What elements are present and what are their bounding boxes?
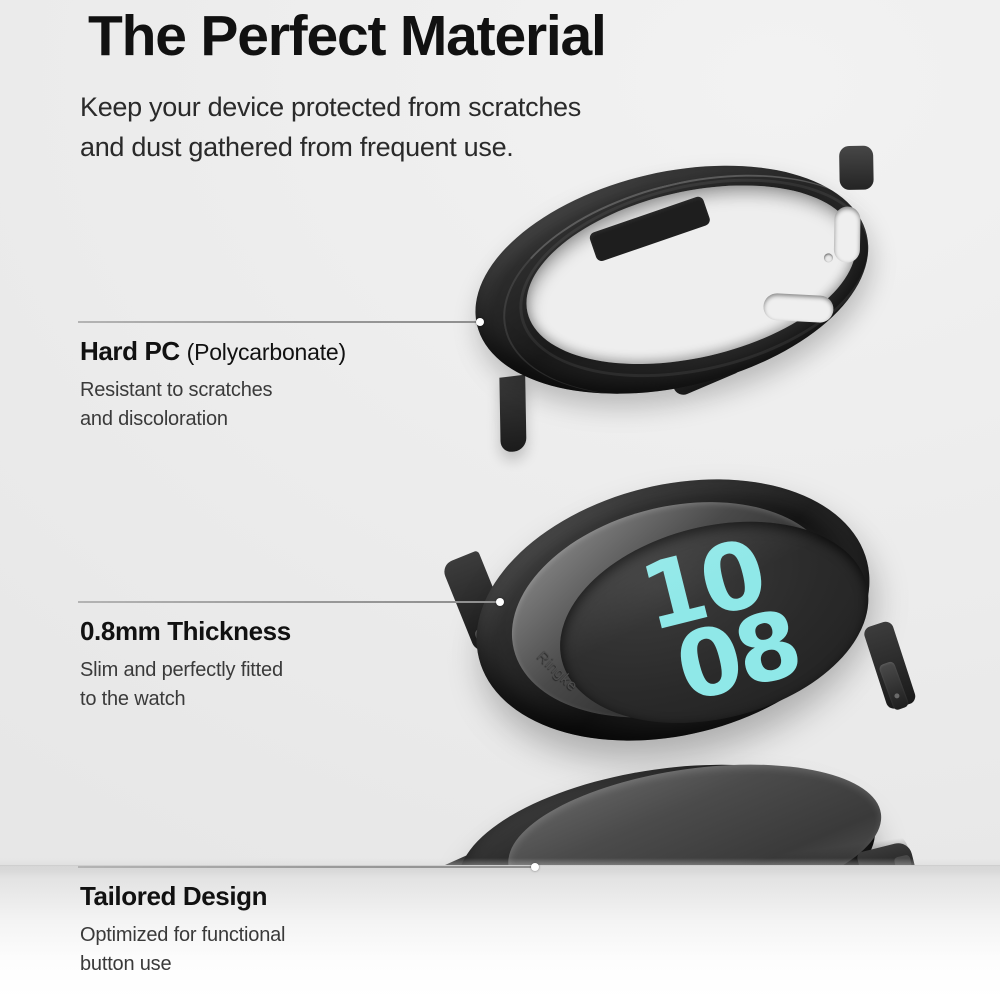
watch-bezel-ring: 10 08 xyxy=(489,470,859,750)
watch-display: 10 08 xyxy=(539,491,890,753)
callout-body-line-2: and discoloration xyxy=(80,405,346,433)
callout-heading-hard-pc: Hard PC (Polycarbonate) xyxy=(80,336,346,367)
callout-heading-bold: Hard PC xyxy=(80,336,187,366)
callout-heading-bold: Tailored Design xyxy=(80,881,267,911)
leader-line-thickness xyxy=(78,601,500,603)
callout-body-line-2: to the watch xyxy=(80,685,291,713)
leader-line-tailored-design xyxy=(78,866,535,868)
subtitle-line-2: and dust gathered from frequent use. xyxy=(80,128,581,168)
subtitle-line-1: Keep your device protected from scratche… xyxy=(80,88,581,128)
callout-body-hard-pc: Resistant to scratches and discoloration xyxy=(80,376,346,433)
callout-heading-thickness: 0.8mm Thickness xyxy=(80,616,291,647)
bezel-strap-arm-right xyxy=(839,146,874,191)
callout-body-thickness: Slim and perfectly fitted to the watch xyxy=(80,656,291,713)
callout-body-tailored-design: Optimized for functional button use xyxy=(80,921,285,978)
watch-time-minutes: 08 xyxy=(670,605,805,707)
callout-heading-bold: 0.8mm Thickness xyxy=(80,616,291,646)
watch-time-readout: 10 08 xyxy=(539,491,890,753)
callout-hard-pc: Hard PC (Polycarbonate) Resistant to scr… xyxy=(80,336,346,433)
watch-case: 10 08 Ringke xyxy=(449,440,898,779)
callout-heading-light: (Polycarbonate) xyxy=(187,339,346,365)
bezel-button-cutout-upper xyxy=(834,206,861,262)
bezel-button-cutout-lower xyxy=(763,293,834,324)
product-feature-graphic: 10 08 Ringke xyxy=(0,0,1000,1000)
page-subtitle: Keep your device protected from scratche… xyxy=(80,88,581,168)
callout-body-line-1: Resistant to scratches xyxy=(80,376,346,404)
page-title: The Perfect Material xyxy=(88,6,606,68)
callout-body-line-2: button use xyxy=(80,950,285,978)
callout-tailored-design: Tailored Design Optimized for functional… xyxy=(80,881,285,978)
callout-heading-tailored-design: Tailored Design xyxy=(80,881,285,912)
leader-line-hard-pc xyxy=(78,321,480,323)
bezel-strap-arm-left xyxy=(499,375,526,454)
callout-body-line-1: Optimized for functional xyxy=(80,921,285,949)
callout-thickness: 0.8mm Thickness Slim and perfectly fitte… xyxy=(80,616,291,713)
callout-body-line-1: Slim and perfectly fitted xyxy=(80,656,291,684)
